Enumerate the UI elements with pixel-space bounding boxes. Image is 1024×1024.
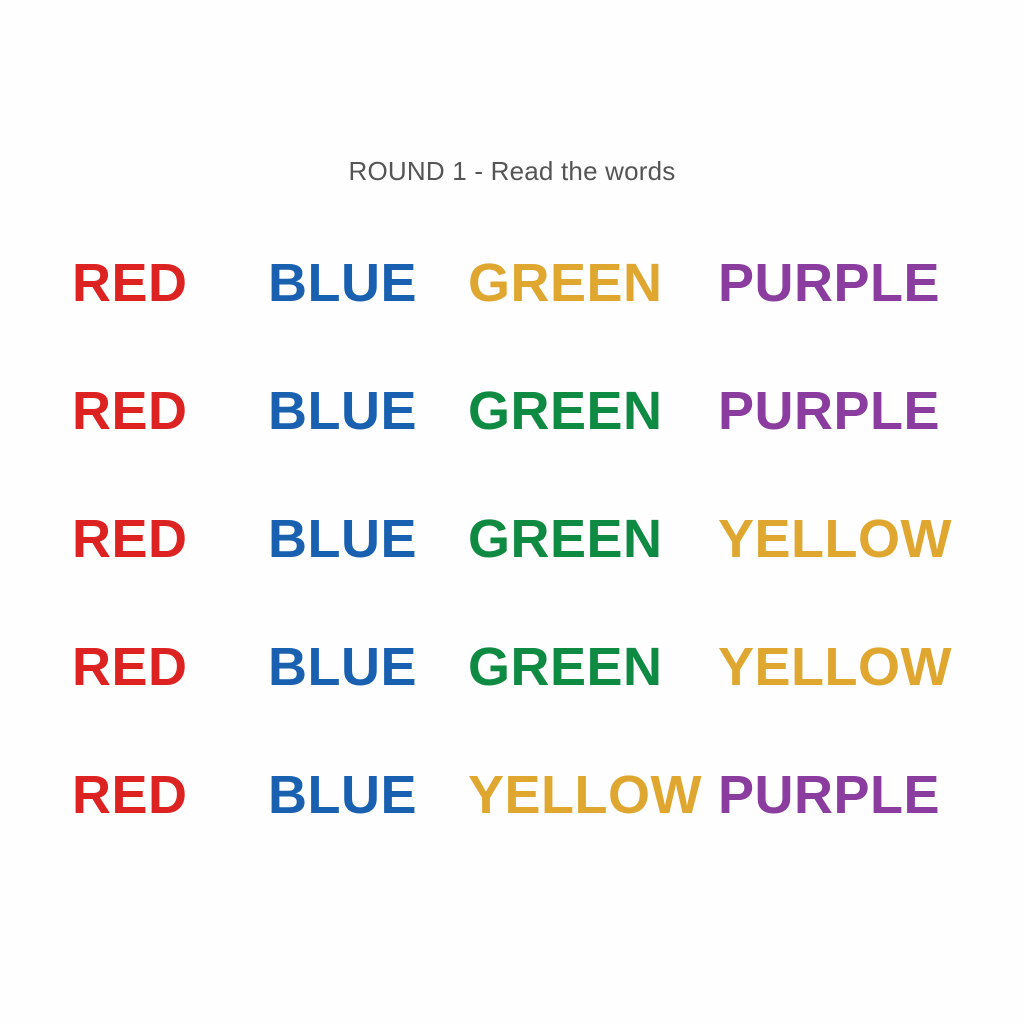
stroop-word[interactable]: RED [72,380,268,442]
page-title: ROUND 1 - Read the words [0,156,1024,187]
stroop-word[interactable]: GREEN [468,508,718,570]
stroop-word[interactable]: RED [72,252,268,314]
stroop-word[interactable]: YELLOW [468,764,718,826]
stroop-word[interactable]: BLUE [268,380,468,442]
stroop-word[interactable]: RED [72,636,268,698]
stroop-word[interactable]: PURPLE [718,764,972,826]
stroop-word[interactable]: YELLOW [718,636,972,698]
stroop-word[interactable]: YELLOW [718,508,972,570]
word-row: RED BLUE GREEN YELLOW [72,636,972,764]
word-row: RED BLUE GREEN PURPLE [72,380,972,508]
stroop-word[interactable]: BLUE [268,508,468,570]
stroop-word[interactable]: BLUE [268,252,468,314]
word-row: RED BLUE GREEN YELLOW [72,508,972,636]
stroop-word[interactable]: PURPLE [718,252,972,314]
stroop-word[interactable]: GREEN [468,636,718,698]
stroop-word-grid: RED BLUE GREEN PURPLE RED BLUE GREEN PUR… [72,252,972,892]
stroop-word[interactable]: RED [72,764,268,826]
stroop-word[interactable]: BLUE [268,636,468,698]
stroop-word[interactable]: PURPLE [718,380,972,442]
stroop-word[interactable]: GREEN [468,380,718,442]
stroop-test-page: ROUND 1 - Read the words RED BLUE GREEN … [0,0,1024,1024]
stroop-word[interactable]: RED [72,508,268,570]
stroop-word[interactable]: BLUE [268,764,468,826]
word-row: RED BLUE GREEN PURPLE [72,252,972,380]
stroop-word[interactable]: GREEN [468,252,718,314]
word-row: RED BLUE YELLOW PURPLE [72,764,972,892]
